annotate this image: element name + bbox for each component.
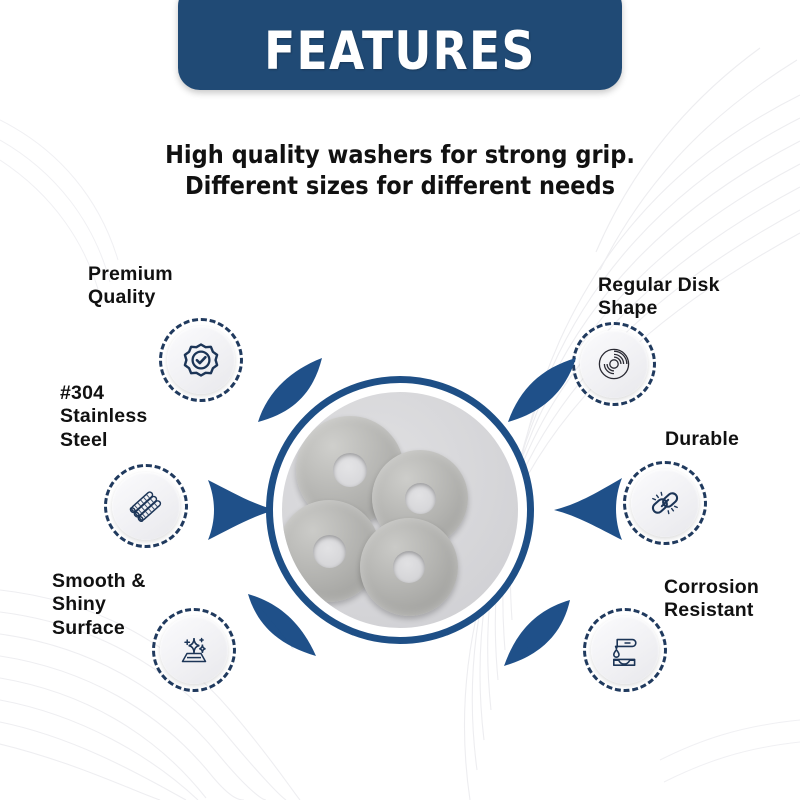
subtitle-line-2: Different sizes for different needs bbox=[40, 171, 760, 202]
arrow-corrosion-resistant bbox=[494, 588, 586, 676]
washer-hole bbox=[313, 535, 346, 568]
subtitle-line-1: High quality washers for strong grip. bbox=[40, 140, 760, 171]
quality-badge-icon bbox=[181, 340, 221, 380]
feature-label-durable: Durable bbox=[665, 428, 795, 451]
icon-bubble-corrosion-resistant bbox=[583, 608, 667, 692]
icon-bubble-stainless-steel-304 bbox=[104, 464, 188, 548]
arrow-regular-disk-shape bbox=[496, 348, 588, 434]
icon-disc bbox=[580, 330, 648, 398]
page-title: FEATURES bbox=[264, 25, 536, 78]
corrosion-drop-icon bbox=[604, 629, 646, 671]
icon-disc bbox=[112, 472, 180, 540]
subtitle-block: High quality washers for strong grip. Di… bbox=[0, 140, 800, 201]
washer-hole bbox=[405, 483, 436, 514]
feature-label-premium-quality: Premium Quality bbox=[88, 263, 248, 310]
washer-hole bbox=[393, 551, 425, 583]
feature-label-stainless-steel-304: #304 Stainless Steel bbox=[60, 382, 210, 452]
steel-rods-icon bbox=[125, 485, 167, 527]
product-circle-ring bbox=[266, 376, 534, 644]
icon-bubble-smooth-shiny-surface bbox=[152, 608, 236, 692]
feature-label-corrosion-resistant: Corrosion Resistant bbox=[664, 576, 800, 623]
icon-disc bbox=[631, 469, 699, 537]
icon-disc bbox=[160, 616, 228, 684]
infographic-canvas: FEATURES High quality washers for strong… bbox=[0, 0, 800, 800]
product-image-disc bbox=[282, 392, 518, 628]
header-banner: FEATURES bbox=[178, 0, 622, 90]
chain-link-icon bbox=[644, 482, 686, 524]
icon-disc bbox=[591, 616, 659, 684]
disk-shape-icon bbox=[593, 343, 635, 385]
shine-surface-icon bbox=[173, 629, 215, 671]
feature-label-regular-disk-shape: Regular Disk Shape bbox=[598, 274, 798, 321]
washer-hole bbox=[333, 453, 367, 487]
icon-bubble-durable bbox=[623, 461, 707, 545]
washer-item bbox=[360, 518, 458, 616]
arrow-durable bbox=[544, 472, 626, 546]
